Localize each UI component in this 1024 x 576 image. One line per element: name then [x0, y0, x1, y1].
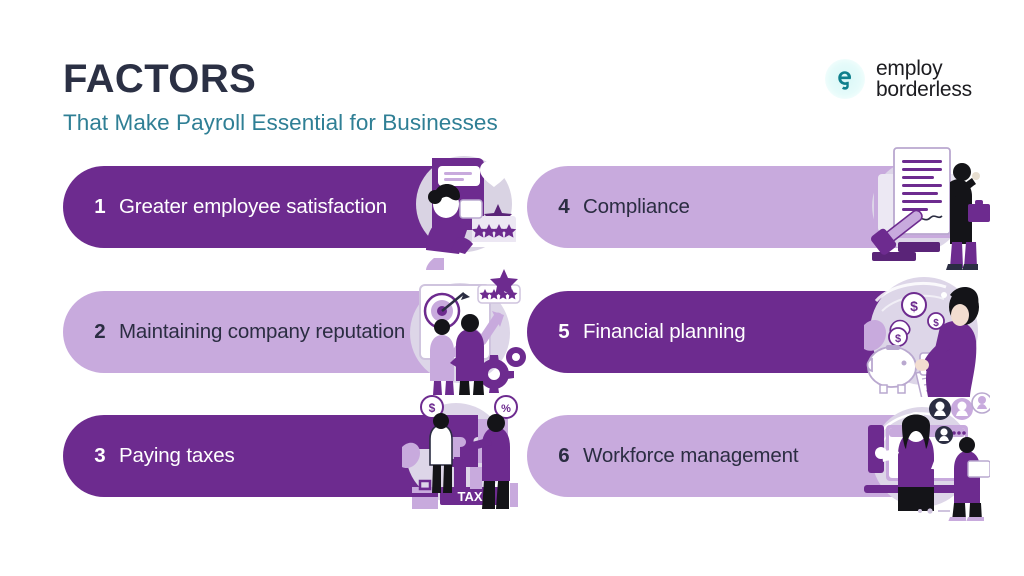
factor-label-3: Paying taxes: [119, 444, 235, 468]
factor-pill-1[interactable]: 1 Greater employee satisfaction: [63, 166, 486, 248]
factor-label-1: Greater employee satisfaction: [119, 195, 387, 219]
factor-label-6: Workforce management: [583, 444, 798, 468]
page-title: FACTORS: [63, 58, 703, 100]
brand-logo: employ borderless: [825, 58, 972, 101]
factor-number-2: 2: [89, 320, 111, 344]
factor-item-1[interactable]: 1 Greater employee satisfaction: [63, 166, 513, 248]
factor-label-4: Compliance: [583, 195, 690, 219]
svg-text:%: %: [501, 403, 511, 415]
factor-item-5[interactable]: 5 Financial planning $ $ $: [527, 291, 977, 373]
factor-item-4[interactable]: 4 Compliance: [527, 166, 977, 248]
factor-pill-4[interactable]: 4 Compliance: [527, 166, 950, 248]
factor-pill-6[interactable]: 6 Workforce management: [527, 415, 950, 497]
factor-number-3: 3: [89, 444, 111, 468]
factor-pill-5[interactable]: 5 Financial planning: [527, 291, 950, 373]
logo-line-1: employ: [876, 58, 972, 79]
factor-item-6[interactable]: 6 Workforce management: [527, 415, 977, 497]
factor-item-3[interactable]: 3 Paying taxes $ % TAX: [63, 415, 513, 497]
factor-number-1: 1: [89, 195, 111, 219]
factor-number-4: 4: [553, 195, 575, 219]
factor-number-5: 5: [553, 320, 575, 344]
factor-pill-2[interactable]: 2 Maintaining company reputation: [63, 291, 486, 373]
page-subtitle: That Make Payroll Essential for Business…: [63, 109, 703, 136]
logo-wordmark: employ borderless: [876, 58, 972, 101]
factor-pill-3[interactable]: 3 Paying taxes: [63, 415, 486, 497]
header: FACTORS That Make Payroll Essential for …: [63, 58, 703, 136]
svg-text:$: $: [429, 401, 436, 415]
infographic-canvas: FACTORS That Make Payroll Essential for …: [0, 0, 1024, 576]
employ-borderless-e-icon: [825, 59, 865, 99]
factor-label-2: Maintaining company reputation: [119, 320, 405, 344]
logo-line-2: borderless: [876, 79, 972, 100]
factor-number-6: 6: [553, 444, 575, 468]
factor-item-2[interactable]: 2 Maintaining company reputation: [63, 291, 513, 373]
factor-label-5: Financial planning: [583, 320, 746, 344]
